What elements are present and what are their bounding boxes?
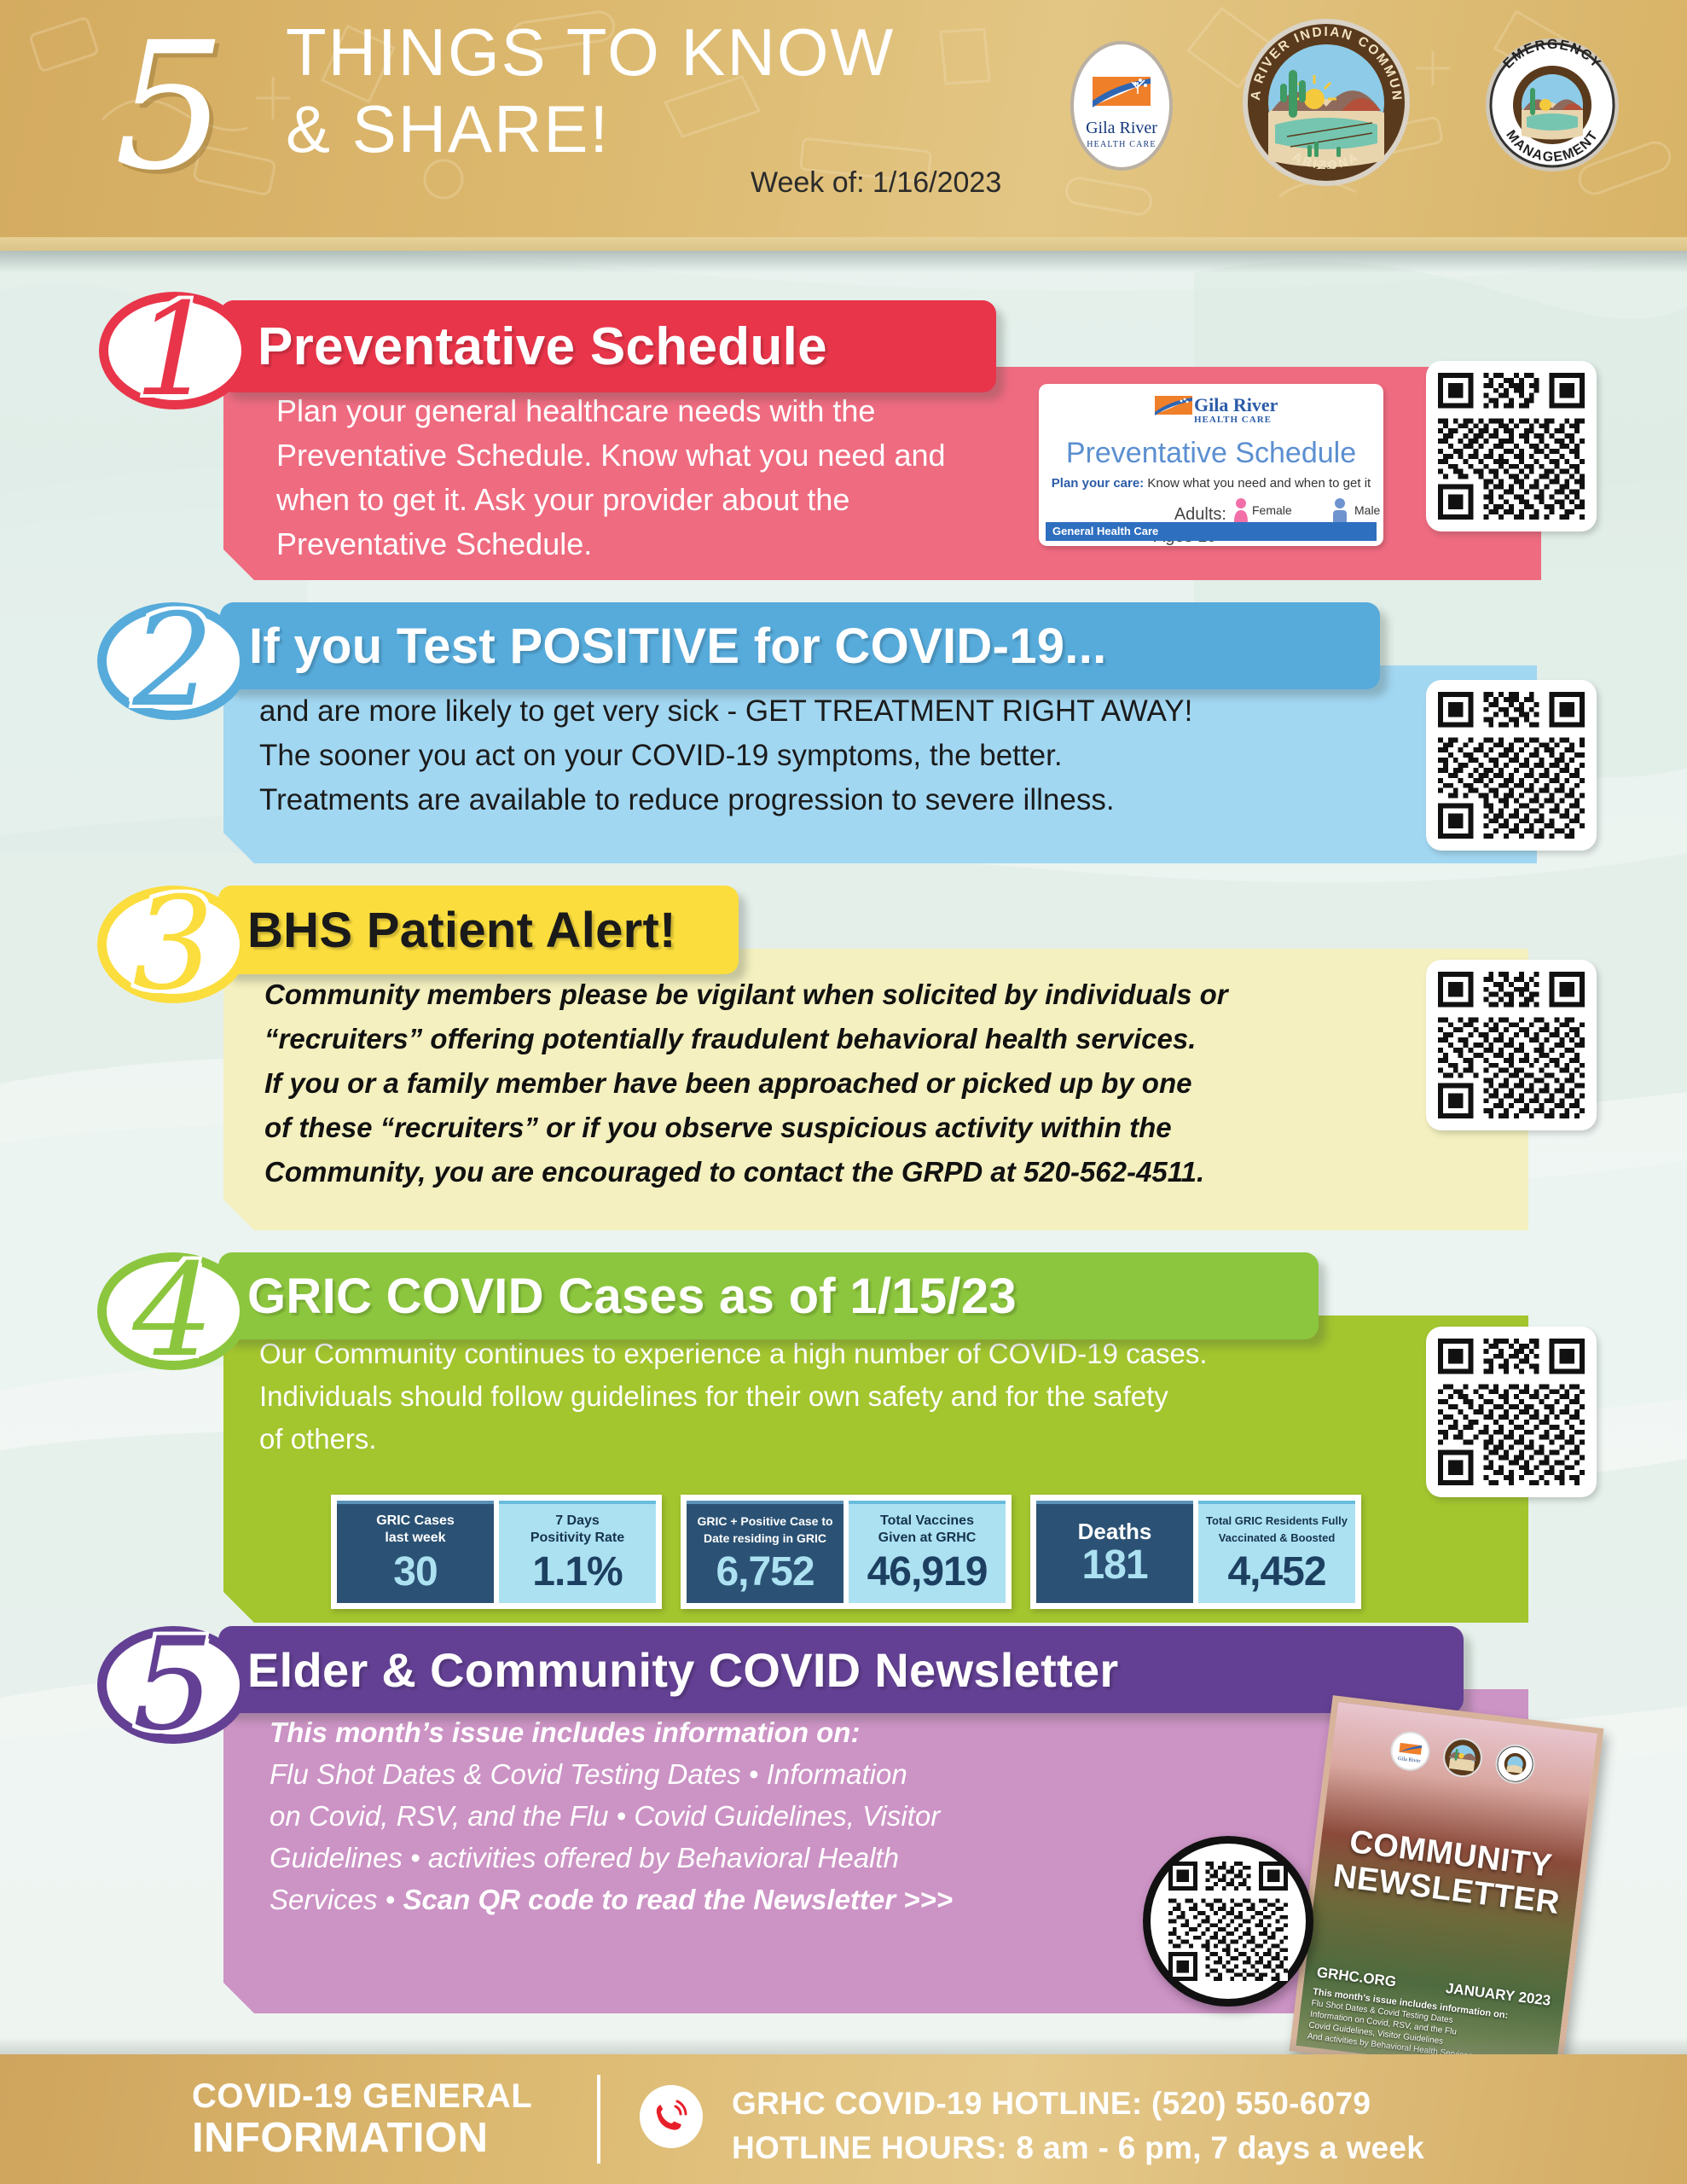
title-line-2: & SHARE! [286,92,895,166]
footer-left-line-2: INFORMATION [192,2116,532,2160]
footer-left-line-1: COVID-19 GENERAL [192,2077,532,2116]
page-footer: COVID-19 GENERAL INFORMATION GRHC COVID-… [0,2054,1687,2184]
section-3-body-line-5: Community, you are encouraged to contact… [264,1150,1228,1194]
ps-card-title: Preventative Schedule [1039,437,1383,470]
stat-box-gric-cases-last-week: GRIC Cases last week 30 [337,1501,494,1603]
newsletter-seal-gric [1441,1736,1484,1780]
stat-0-label-1: GRIC Cases [376,1513,455,1528]
section-3-number: 3 [132,880,213,1008]
ps-card-subtitle-rest: Know what you need and when to get it [1144,476,1371,491]
section-2-body-text: and are more likely to get very sick - G… [259,689,1192,822]
section-2-number: 2 [132,597,213,725]
section-3-number-badge: 3 [92,880,254,1008]
section-5-number-badge: 5 [92,1621,254,1749]
stat-3-label-2: Given at GRHC [878,1531,977,1545]
section-4-title: GRIC COVID Cases as of 1/15/23 [247,1268,1017,1325]
svg-text:HEALTH CARE: HEALTH CARE [1087,140,1156,149]
gila-river-indian-community-seal: GILA RIVER INDIAN COMMUNITY ARIZONA 1939 [1241,17,1412,188]
footer-hotline-hours: HOTLINE HOURS: 8 am - 6 pm, 7 days a wee… [732,2126,1424,2170]
qr-code-preventative-schedule[interactable] [1426,361,1597,531]
stat-4-value: 181 [1081,1543,1147,1588]
stat-0-value: 30 [393,1550,437,1594]
section-3-body-line-4: of these “recruiters” or if you observe … [264,1106,1228,1150]
newsletter-cover-url: GRHC.ORG [1316,1964,1397,1990]
ps-card-adults-l1: Adults: [1174,505,1226,524]
qr-code-bhs-alert[interactable] [1426,960,1597,1130]
section-4-body-text: Our Community continues to experience a … [259,1333,1208,1461]
stat-3-label-1: Total Vaccines [880,1513,974,1528]
section-2-header-bar: If you Test POSITIVE for COVID-19... [220,602,1380,689]
qr-code-newsletter[interactable] [1143,1836,1313,2007]
stat-box-gric-positive-cases-to-date: GRIC + Positive Case to Date residing in… [687,1501,843,1603]
svg-text:1939: 1939 [1316,161,1336,171]
stat-2-label-2: Date residing in GRIC [704,1531,826,1545]
ps-card-female-label: Female [1252,503,1292,517]
section-3-header-bar: BHS Patient Alert! [218,886,739,974]
stat-4-label-1: Deaths [1078,1519,1152,1544]
section-3-body-text: Community members please be vigilant whe… [264,973,1228,1194]
title-line-1: THINGS TO KNOW [286,15,895,89]
stat-1-label-2: Positivity Rate [530,1531,624,1545]
stat-box-deaths: Deaths 181 [1036,1501,1193,1603]
stat-1-label-1: 7 Days [555,1513,600,1528]
stat-2-value: 6,752 [716,1550,814,1594]
footer-hotline-info: GRHC COVID-19 HOTLINE: (520) 550-6079 HO… [732,2082,1424,2170]
footer-shadow [0,2037,1687,2054]
stat-5-label-2: Vaccinated & Boosted [1219,1531,1336,1544]
ps-card-logo-sub: HEALTH CARE [1194,415,1272,425]
section-5-intro: This month’s issue includes information … [270,1711,1122,1753]
section-2-body-panel: and are more likely to get very sick - G… [223,665,1537,863]
section-5-header-bar: Elder & Community COVID Newsletter [218,1626,1464,1713]
phone-ringing-icon [640,2085,703,2148]
section-2-body-line-3: Treatments are available to reduce progr… [259,778,1192,822]
week-label: Week of: 1/16/2023 [751,166,1001,200]
stat-5-value: 4,452 [1227,1550,1325,1594]
gila-river-health-care-logo: Gila River HEALTH CARE [1070,41,1173,171]
section-5-cta: Scan QR code to read the Newsletter >>> [403,1884,953,1915]
section-1-number: 1 [134,287,215,415]
stat-group-2: GRIC + Positive Case to Date residing in… [681,1495,1012,1609]
covid-stats-row: GRIC Cases last week 30 7 Days Positivit… [331,1495,1361,1609]
newsletter-seal-em [1493,1742,1537,1786]
svg-text:Gila River: Gila River [1086,119,1157,137]
section-2-body-line-1: and are more likely to get very sick - G… [259,689,1192,734]
page-header: 5 THINGS TO KNOW & SHARE! Week of: 1/16/… [0,0,1687,237]
section-2-body-line-2: The sooner you act on your COVID-19 symp… [259,734,1192,778]
section-4-number-badge: 4 [92,1247,254,1375]
ps-card-footer: General Health Care [1046,522,1377,541]
footer-hotline-number: GRHC COVID-19 HOTLINE: (520) 550-6079 [732,2082,1424,2126]
section-5-body-line-4: Services • [270,1884,403,1915]
section-2-number-badge: 2 [92,597,254,725]
newsletter-cover-title: COMMUNITY NEWSLETTER [1315,1821,1583,1924]
section-4-number: 4 [132,1247,213,1375]
section-3-body-line-3: If you or a family member have been appr… [264,1061,1228,1106]
ps-card-subtitle-bold: Plan your care: [1052,476,1144,491]
newsletter-cover-seals: Gila River [1330,1722,1594,1793]
section-1-header-bar: Preventative Schedule [220,300,996,392]
section-3-body-line-2: “recruiters” offering potentially fraudu… [264,1017,1228,1061]
section-4-body-line-2: Individuals should follow guidelines for… [259,1375,1208,1418]
ps-card-male-label: Male [1354,503,1380,517]
header-bottom-stripe [0,237,1687,251]
section-5-body-line-3: Guidelines • activities offered by Behav… [270,1837,1122,1879]
section-4-header-bar: GRIC COVID Cases as of 1/15/23 [218,1252,1319,1339]
infographic-page: 5 THINGS TO KNOW & SHARE! Week of: 1/16/… [0,0,1687,2184]
section-5-body-line-1: Flu Shot Dates & Covid Testing Dates • I… [270,1753,1122,1795]
section-5-body-text: This month’s issue includes information … [270,1711,1122,1920]
stat-box-7-days-positivity-rate: 7 Days Positivity Rate 1.1% [499,1501,656,1603]
page-title: THINGS TO KNOW & SHARE! [286,15,895,166]
footer-divider [597,2075,600,2164]
section-1-body-text: Plan your general healthcare needs with … [276,389,950,566]
stat-0-label-2: last week [385,1531,445,1545]
community-newsletter-cover: Gila River COMMUNITY NEWSLETTER GRHC.ORG… [1290,1695,1604,2084]
section-3-body-line-1: Community members please be vigilant whe… [264,973,1228,1017]
stat-box-fully-vaccinated-boosted: Total GRIC Residents Fully Vaccinated & … [1198,1501,1355,1603]
preventative-schedule-card: Gila River HEALTH CARE Preventative Sche… [1039,384,1383,546]
section-3-body-panel: Community members please be vigilant whe… [223,949,1528,1230]
stat-5-label-1: Total GRIC Residents Fully [1206,1514,1348,1527]
section-1-title: Preventative Schedule [258,317,827,377]
section-3-title: BHS Patient Alert! [247,902,676,959]
stat-3-value: 46,919 [867,1550,988,1594]
footer-left-title: COVID-19 GENERAL INFORMATION [192,2077,532,2160]
section-2-title: If you Test POSITIVE for COVID-19... [249,618,1107,675]
stat-2-label-1: GRIC + Positive Case to [697,1514,832,1528]
section-1-number-badge: 1 [94,287,256,415]
section-5-title: Elder & Community COVID Newsletter [247,1642,1119,1698]
stat-group-3: Deaths 181 Total GRIC Residents Fully Va… [1030,1495,1361,1609]
emergency-management-seal: EMERGENCY MANAGEMENT [1484,37,1620,173]
ps-card-subtitle: Plan your care: Know what you need and w… [1039,476,1383,491]
section-4-body-line-3: of others. [259,1418,1208,1461]
qr-code-covid-treatment[interactable] [1426,680,1597,851]
stat-group-1: GRIC Cases last week 30 7 Days Positivit… [331,1495,662,1609]
newsletter-seal-grhc: Gila River [1388,1729,1432,1773]
header-number-5: 5 [78,15,262,199]
stat-1-value: 1.1% [532,1550,622,1594]
section-5-number: 5 [132,1621,213,1749]
section-5-body-line-2: on Covid, RSV, and the Flu • Covid Guide… [270,1795,1122,1837]
header-shadow [0,251,1687,273]
qr-code-gric-covid-cases[interactable] [1426,1327,1597,1497]
ps-card-logo-text: Gila River [1194,396,1278,415]
stat-box-total-vaccines-given: Total Vaccines Given at GRHC 46,919 [849,1501,1006,1603]
